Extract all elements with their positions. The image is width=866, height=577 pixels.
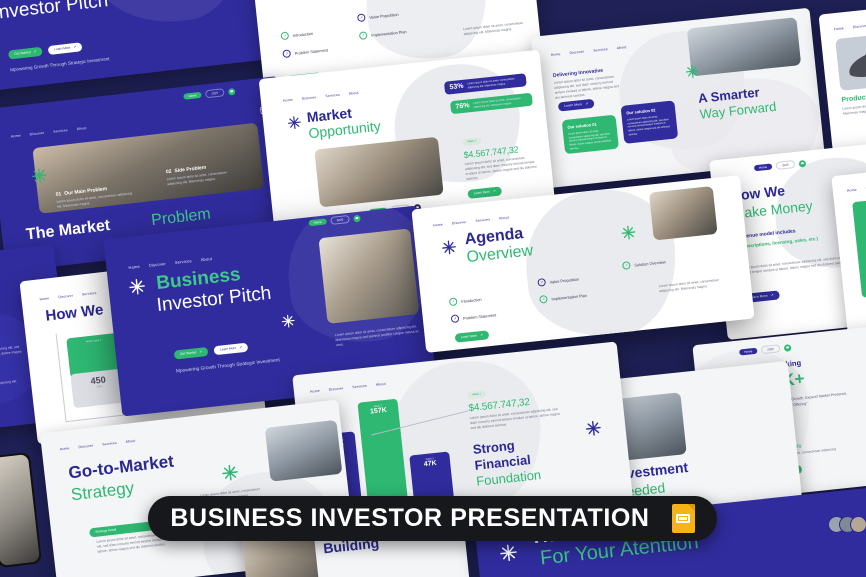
go-to-market-photo bbox=[265, 420, 343, 482]
arrow-circle-icon: ↗ bbox=[359, 31, 368, 40]
dot-indicator-icon bbox=[783, 344, 791, 352]
arrow-circle-icon: ↗ bbox=[449, 297, 458, 306]
badge-year[interactable]: 2025 bbox=[761, 344, 780, 354]
nav-item-services[interactable]: Services bbox=[475, 217, 490, 223]
asterisk-icon bbox=[620, 224, 636, 240]
asterisk-icon bbox=[685, 64, 700, 79]
metric-label: Week 1 bbox=[467, 391, 486, 399]
asterisk-icon bbox=[221, 463, 240, 482]
asterisk-icon bbox=[128, 277, 147, 296]
market-photo bbox=[314, 137, 443, 208]
badge-year[interactable]: 2025 bbox=[735, 8, 754, 16]
slide-badge-row[interactable]: Home 2025 bbox=[183, 87, 235, 101]
learn-more-button[interactable]: Learn More ↗ bbox=[48, 42, 83, 54]
arrow-circle-icon: ↗ bbox=[451, 314, 460, 323]
arrow-up-right-icon: ↗ bbox=[480, 333, 483, 337]
nav-item-about[interactable]: About bbox=[200, 256, 212, 262]
dot-indicator-icon bbox=[798, 159, 806, 167]
go-to-market-accent: Strategy bbox=[70, 479, 135, 503]
nav-item-discover[interactable]: Discover bbox=[569, 50, 584, 56]
agenda-item-label: Value Propotition bbox=[549, 276, 579, 284]
learn-more-label: Learn More bbox=[220, 347, 237, 352]
go-to-market-title: Go-to-Market bbox=[68, 453, 175, 482]
nav-item-discover[interactable]: Discover bbox=[302, 95, 317, 101]
get-started-label: Get Started bbox=[14, 51, 31, 56]
get-started-label: Get Started bbox=[180, 351, 197, 356]
hero-subtitle: Mpowering Growth Through Strategic Inves… bbox=[176, 356, 288, 376]
nav-item-home[interactable]: Home bbox=[39, 296, 49, 301]
learn-more-button[interactable]: Learn More ↗ bbox=[214, 343, 249, 355]
nav-item-home[interactable]: Home bbox=[60, 446, 70, 451]
badge-home[interactable]: Home bbox=[754, 163, 773, 171]
slide-badge-row[interactable]: Home 2025 bbox=[713, 8, 765, 18]
arrow-circle-icon: ↗ bbox=[357, 13, 366, 22]
nav-item-discover[interactable]: Discover bbox=[149, 261, 167, 268]
avatar-group bbox=[828, 516, 866, 533]
dot-indicator-icon bbox=[228, 88, 236, 96]
badge-home[interactable]: Home bbox=[739, 348, 758, 356]
banner-title: BUSINESS INVESTOR PRESENTATION bbox=[170, 504, 649, 533]
problem-card-2-number: 02 bbox=[166, 169, 172, 176]
slide-nav[interactable]: Home Discover Services About bbox=[60, 439, 136, 452]
nav-item-home[interactable]: Home bbox=[847, 188, 857, 193]
asterisk-icon bbox=[280, 313, 295, 328]
badge-home[interactable]: Home bbox=[713, 9, 732, 17]
market-problem-accent: Problem bbox=[151, 207, 212, 230]
agenda-item-label: Problem Statement bbox=[294, 47, 328, 55]
nav-item-services[interactable]: Services bbox=[175, 258, 192, 265]
nav-item-home[interactable]: Home bbox=[128, 264, 140, 270]
arrow-up-right-icon: ↗ bbox=[33, 50, 36, 54]
product-title: Product number bbox=[841, 91, 866, 104]
nav-item-home[interactable]: Home bbox=[433, 222, 443, 227]
get-started-button[interactable]: Get Started ↗ bbox=[174, 347, 209, 359]
learn-more-button[interactable]: Learn More ↗ bbox=[455, 330, 490, 342]
nav-item-services[interactable]: Services bbox=[352, 384, 367, 390]
nav-item-discover[interactable]: Discover bbox=[78, 444, 93, 450]
learn-more-button[interactable]: Learn More ↗ bbox=[558, 99, 595, 111]
arrow-circle-icon: ↗ bbox=[282, 49, 291, 58]
cover-title: Investor Pitch bbox=[0, 0, 109, 23]
arrow-circle-icon: ↗ bbox=[280, 31, 289, 40]
arrow-up-right-icon: ↗ bbox=[73, 45, 76, 49]
agenda-item-label: Introduction bbox=[293, 30, 314, 37]
nav-item-discover[interactable]: Discover bbox=[853, 24, 866, 30]
agenda-item-label: Introduction bbox=[461, 296, 482, 303]
arrow-circle-icon: ↗ bbox=[537, 278, 546, 287]
solution-card-2[interactable]: Our solution 02 Lorem ipsum dolor sit am… bbox=[621, 100, 679, 143]
arrow-circle-icon: ↗ bbox=[539, 295, 548, 304]
asterisk-icon bbox=[585, 420, 603, 438]
asterisk-icon bbox=[31, 167, 49, 185]
nav-item-about[interactable]: About bbox=[617, 45, 627, 50]
learn-more-label: Learn More bbox=[474, 190, 491, 195]
nav-item-about[interactable]: About bbox=[77, 126, 87, 131]
agenda-item-introduction[interactable]: ↗ Introduction bbox=[449, 293, 495, 306]
chart-bar-value: 157K bbox=[370, 407, 387, 416]
nav-item-discover[interactable]: Discover bbox=[329, 386, 344, 392]
agenda-item-label: Value Propotition bbox=[369, 11, 399, 19]
dot-indicator-icon bbox=[353, 214, 361, 222]
nav-item-home[interactable]: Home bbox=[11, 133, 21, 138]
slide-nav[interactable]: Home Discover Services About bbox=[283, 91, 359, 103]
nav-item-home[interactable]: Home bbox=[551, 52, 561, 57]
nav-item-about[interactable]: About bbox=[125, 439, 135, 444]
badge-home[interactable]: Home bbox=[183, 92, 202, 100]
arrow-up-right-icon: ↗ bbox=[493, 190, 496, 194]
title-banner: BUSINESS INVESTOR PRESENTATION bbox=[148, 496, 717, 541]
google-slides-icon bbox=[672, 504, 695, 533]
nav-item-home[interactable]: Home bbox=[283, 98, 293, 103]
agenda-photo bbox=[649, 186, 718, 240]
nav-item-home[interactable]: Home bbox=[834, 26, 844, 31]
nav-item-about[interactable]: About bbox=[376, 382, 386, 387]
metric-label: Week 1 bbox=[462, 138, 481, 146]
slide-nav[interactable]: Home Discover bbox=[847, 185, 866, 192]
strategy-detail-label: Strategy Detail bbox=[95, 528, 116, 534]
learn-more-button[interactable]: Learn More ↗ bbox=[467, 186, 502, 198]
chart-bar bbox=[852, 195, 866, 298]
nav-item-about[interactable]: About bbox=[349, 91, 359, 96]
slide-product[interactable]: Home Discover Product number Lorem ipsum… bbox=[818, 0, 866, 166]
smarter-photo bbox=[687, 17, 801, 76]
badge-year[interactable]: 2025 bbox=[205, 88, 224, 98]
chart-bar-label: Matrix Value 4 bbox=[86, 339, 101, 344]
chart-bar-value: 47K bbox=[423, 460, 437, 468]
nav-item-discover[interactable]: Discover bbox=[58, 294, 73, 300]
badge-home[interactable]: Home bbox=[308, 218, 327, 226]
chart-y-axis bbox=[56, 334, 67, 422]
stat-53-body: Lorem ipsum dolor sit amet, consectetuer… bbox=[467, 77, 521, 90]
badge-year[interactable]: 2025 bbox=[776, 160, 795, 170]
stat-76-value: 76% bbox=[455, 102, 470, 110]
learn-more-label: Learn More bbox=[54, 46, 71, 51]
chart-bar-unit: Total bbox=[96, 385, 101, 389]
agenda-item-problem-statement[interactable]: ↗ Problem Statement bbox=[451, 310, 497, 323]
avatar bbox=[850, 516, 866, 533]
slide-nav[interactable]: Home Discover Services About bbox=[433, 216, 509, 228]
smarter-paragraph: Lorem ipsum dolor sit amet, consectetuer… bbox=[554, 74, 624, 101]
agenda-item[interactable]: ↗ Value Propotition bbox=[357, 9, 405, 22]
phone-mockup bbox=[0, 452, 42, 568]
market-problem-title: The Market bbox=[25, 218, 111, 244]
stat-76-body: Lorem ipsum dolor sit amet, consectetuer… bbox=[473, 96, 527, 109]
nav-item-services[interactable]: Services bbox=[593, 47, 608, 53]
nav-item-services[interactable]: Services bbox=[325, 93, 340, 99]
slide-collage: Investor Pitch Get Started ↗ Learn More … bbox=[0, 0, 866, 577]
nav-item-about[interactable]: About bbox=[499, 216, 509, 221]
agenda-item[interactable]: ↗ Introduction bbox=[280, 28, 326, 41]
slide-nav[interactable]: Home Discover Services About bbox=[310, 382, 386, 394]
nav-item-discover[interactable]: Discover bbox=[452, 220, 467, 226]
hero-photo bbox=[318, 228, 419, 323]
slide-nav[interactable]: Home Discover Services About bbox=[11, 126, 87, 139]
solution-card-2-body: Lorem ipsum dolor sit amet, consectetuer… bbox=[627, 114, 673, 137]
agenda-item[interactable]: ↗ Problem Statement bbox=[282, 45, 328, 58]
learn-more-label: Learn More bbox=[564, 103, 583, 108]
asterisk-icon bbox=[499, 543, 519, 563]
asterisk-icon bbox=[441, 239, 457, 255]
slide-nav[interactable]: Home Discover bbox=[834, 24, 866, 31]
problem-card-1-number: 01 bbox=[55, 191, 61, 198]
solution-card-1[interactable]: Our solution 01 Lorem ipsum dolor sit am… bbox=[562, 115, 619, 154]
arrow-up-right-icon: ↗ bbox=[771, 294, 774, 298]
learn-more-label: Learn More bbox=[461, 334, 478, 339]
agenda-item-label: Problem Statement bbox=[463, 312, 497, 320]
product-image bbox=[835, 29, 866, 91]
arrow-up-right-icon: ↗ bbox=[239, 346, 242, 350]
nav-item-home[interactable]: Home bbox=[310, 389, 320, 394]
slide-nav[interactable]: Home Discover Services bbox=[39, 291, 96, 301]
nav-item-services[interactable]: Services bbox=[82, 291, 97, 297]
dot-indicator-icon bbox=[757, 8, 765, 13]
get-started-button[interactable]: Get Started ↗ bbox=[8, 47, 43, 59]
asterisk-icon bbox=[287, 115, 302, 130]
slide-cover-investor-pitch[interactable]: Investor Pitch Get Started ↗ Learn More … bbox=[0, 0, 275, 92]
nav-item-services[interactable]: Services bbox=[102, 441, 117, 447]
arrow-circle-icon: ↗ bbox=[622, 261, 631, 270]
nav-item-discover[interactable]: Discover bbox=[29, 131, 44, 137]
stat-53-value: 53% bbox=[449, 83, 464, 91]
nav-item-services[interactable]: Services bbox=[53, 128, 68, 134]
how-we-title: How We bbox=[45, 302, 104, 324]
arrow-up-right-icon: ↗ bbox=[199, 350, 202, 354]
arrow-up-right-icon: ↗ bbox=[585, 102, 588, 106]
slide-nav[interactable]: Home Discover Services About bbox=[551, 45, 627, 57]
solution-card-1-body: Lorem ipsum dolor sit amet, consectetuer… bbox=[568, 128, 614, 151]
